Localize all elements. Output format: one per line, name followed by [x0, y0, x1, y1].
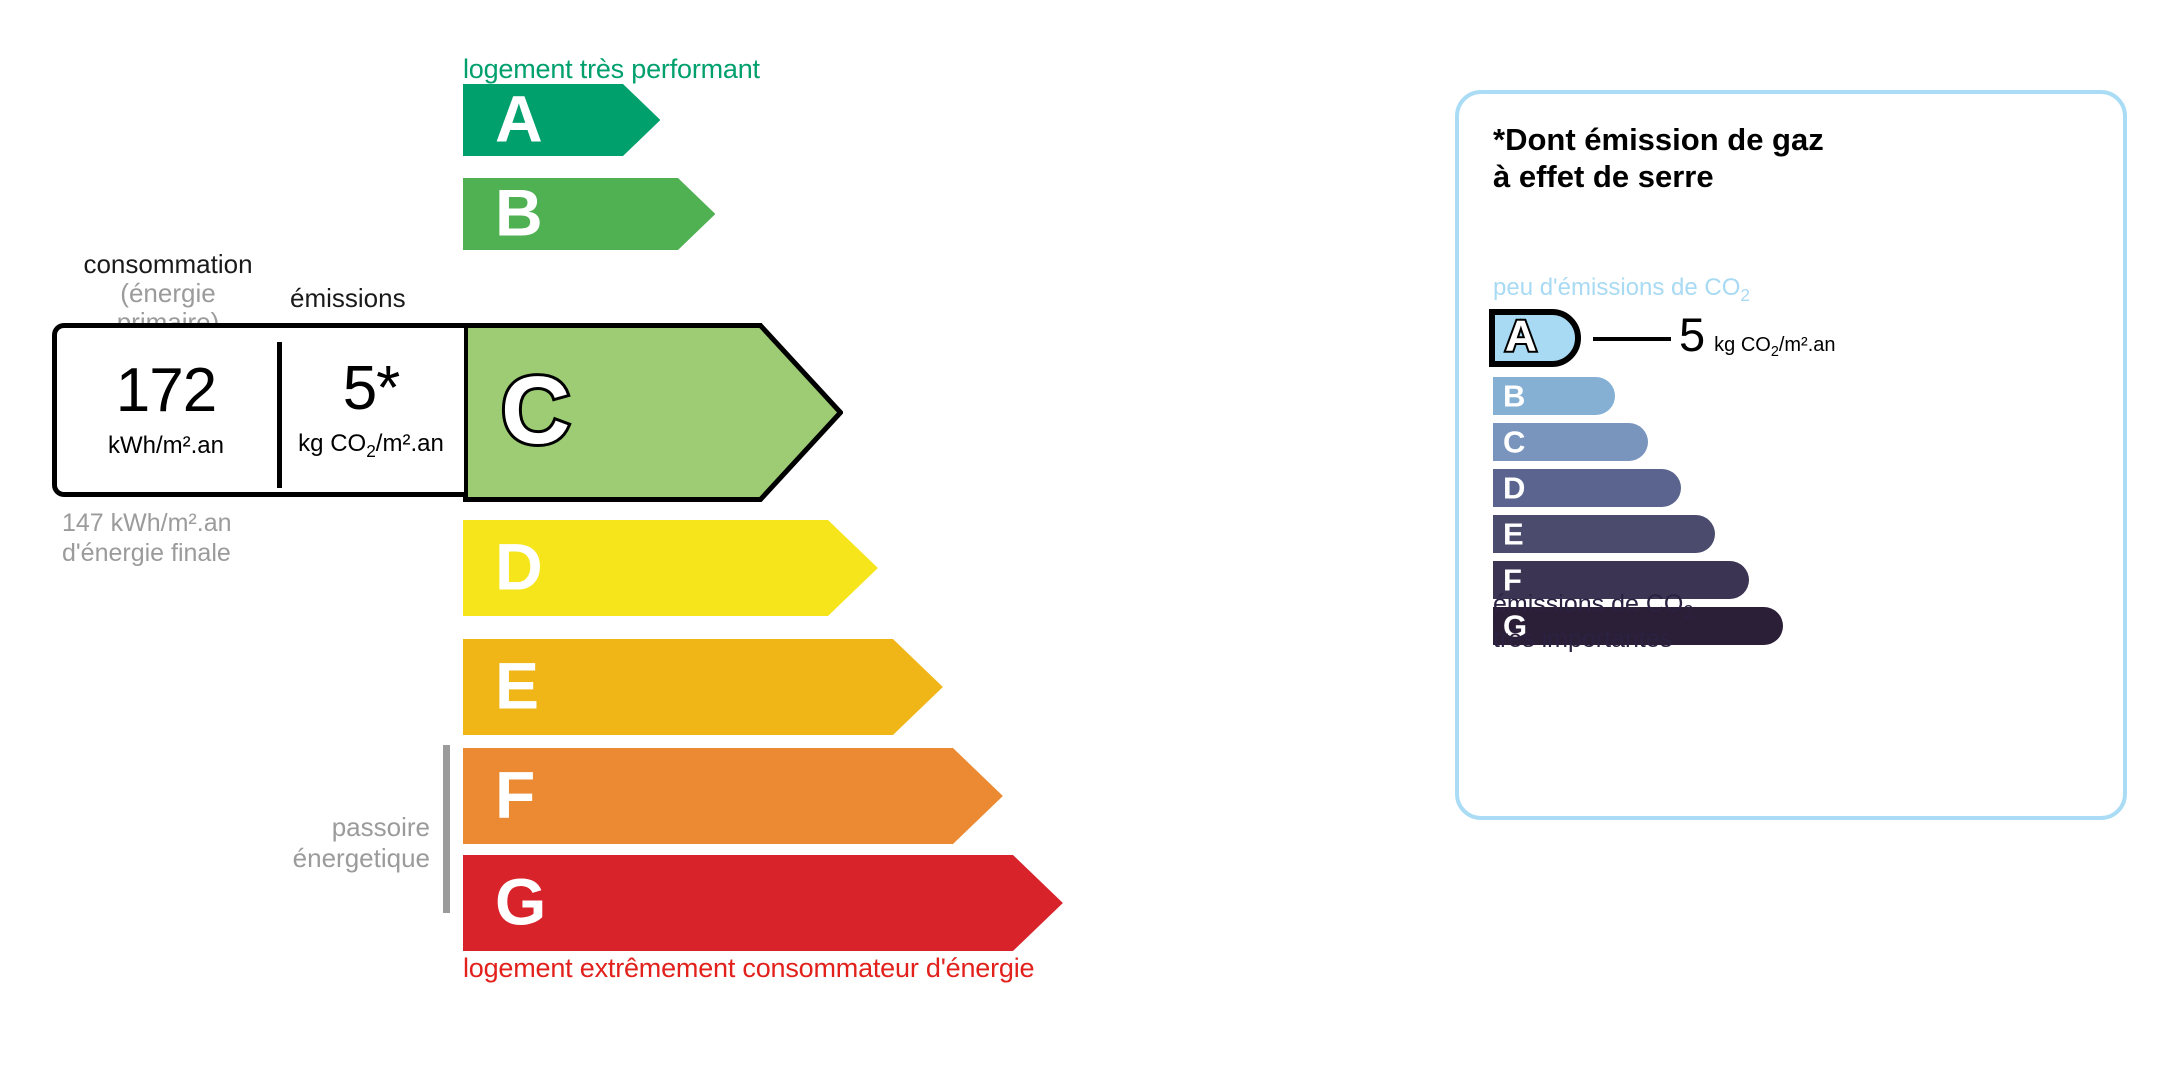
consumption-label-main: consommation: [83, 249, 252, 279]
energy-grade-a: A: [463, 84, 660, 156]
consumption-unit: kWh/m².an: [108, 432, 224, 460]
co2-bar-letter-b: B: [1503, 381, 1525, 412]
co2-title-line1: *Dont émission de gaz: [1493, 122, 1824, 159]
final-energy-note: 147 kWh/m².an d'énergie finale: [62, 508, 232, 568]
co2-class-a-badge: A: [1489, 309, 1581, 367]
co2-title-line2: à effet de serre: [1493, 159, 1824, 196]
consumption-value-cell: 172 kWh/m².an: [57, 328, 275, 492]
co2-leader-line: [1593, 337, 1671, 341]
energy-grade-f: F: [463, 748, 1003, 844]
co2-bar-e: E: [1493, 515, 1715, 553]
co2-bottom-caption: émissions de CO2 très importantes: [1493, 589, 1693, 654]
passoire-label: passoire énergetique: [200, 812, 430, 874]
emissions-label: émissions: [290, 283, 406, 314]
co2-bar-letter-e: E: [1503, 519, 1524, 550]
co2-bar-d: D: [1493, 469, 1681, 507]
co2-unit: kg CO2/m².an: [1714, 334, 1835, 360]
final-energy-line2: d'énergie finale: [62, 538, 232, 568]
grade-arrow-shape: E: [463, 639, 943, 735]
energy-grade-d: D: [463, 520, 878, 616]
grade-arrow-shape: F: [463, 748, 1003, 844]
co2-bar-shape: D: [1493, 469, 1681, 507]
energy-grade-b: B: [463, 178, 715, 250]
passoire-line2: énergetique: [200, 843, 430, 874]
co2-bar-shape: E: [1493, 515, 1715, 553]
emissions-value-cell: 5* kg CO2/m².an: [281, 328, 461, 492]
energy-grade-e: E: [463, 639, 943, 735]
co2-value: 5: [1679, 311, 1705, 358]
co2-bar-b: B: [1493, 377, 1615, 415]
passoire-bracket: [443, 745, 450, 913]
energy-scale-top-caption: logement très performant: [463, 54, 760, 85]
grade-arrow-shape: B: [463, 178, 715, 250]
value-box: 172 kWh/m².an 5* kg CO2/m².an: [52, 323, 464, 497]
co2-panel-title: *Dont émission de gaz à effet de serre: [1493, 122, 1824, 195]
emissions-unit: kg CO2/m².an: [298, 430, 444, 462]
co2-top-caption: peu d'émissions de CO2: [1493, 274, 1750, 306]
grade-arrow-shape: A: [463, 84, 660, 156]
co2-value-group: 5 kg CO2/m².an: [1679, 311, 1836, 360]
co2-bottom-caption-line2: très importantes: [1493, 624, 1693, 654]
final-energy-line1: 147 kWh/m².an: [62, 508, 232, 538]
co2-bottom-caption-line1: émissions de CO2: [1493, 589, 1693, 624]
co2-bar-shape: B: [1493, 377, 1615, 415]
consumption-value: 172: [116, 360, 216, 422]
co2-current-class-row: A 5 kg CO2/m².an: [1489, 309, 1581, 367]
grade-arrow-shape: D: [463, 520, 878, 616]
co2-bar-letter-c: C: [1503, 427, 1525, 458]
energy-grade-c: C: [463, 323, 843, 502]
grade-arrow-shape: C: [463, 323, 843, 502]
co2-emissions-panel: *Dont émission de gaz à effet de serre p…: [1455, 90, 2127, 820]
co2-bar-shape: C: [1493, 423, 1648, 461]
emissions-value: 5*: [343, 358, 400, 420]
energy-scale-bottom-caption: logement extrêmement consommateur d'éner…: [463, 953, 1034, 984]
energy-grade-g: G: [463, 855, 1063, 951]
co2-class-a-letter: A: [1505, 315, 1537, 359]
energy-consumption-panel: logement très performant ABCDEFG logemen…: [0, 0, 1400, 1079]
passoire-line1: passoire: [200, 812, 430, 843]
co2-bar-c: C: [1493, 423, 1648, 461]
co2-bar-letter-d: D: [1503, 473, 1525, 504]
grade-arrow-shape: G: [463, 855, 1063, 951]
